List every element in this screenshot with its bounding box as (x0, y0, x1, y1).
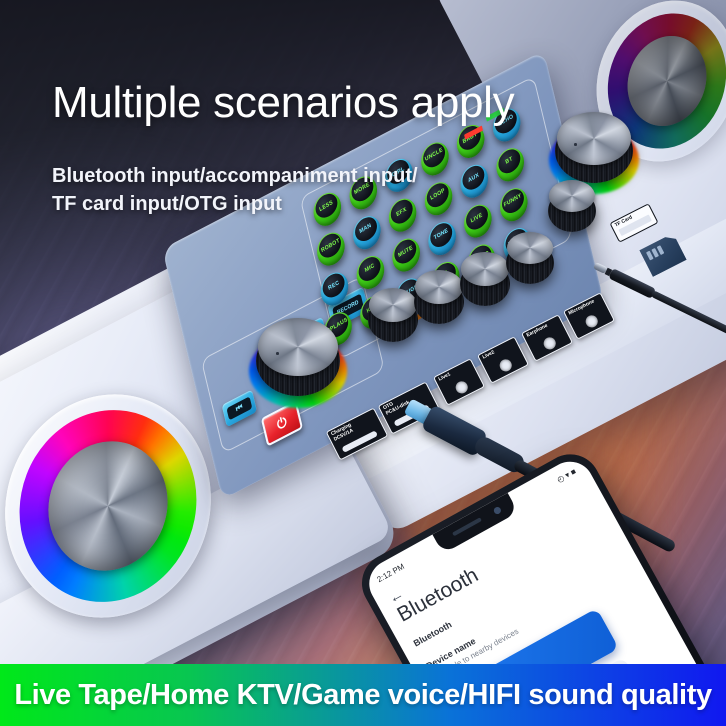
earphone-port-opening (542, 335, 558, 351)
pad-button-label: LIVE (470, 211, 483, 224)
pad-button-label: TONE (433, 228, 449, 242)
microphone-port-opening (584, 313, 600, 329)
pad-button-label: UNCLE (424, 147, 443, 163)
knob-cap (461, 252, 509, 286)
status-time: 2:12 PM (375, 561, 405, 583)
banner-text: Live Tape/Home KTV/Game voice/HIFI sound… (14, 679, 711, 712)
pad-button-label: MIC (364, 263, 375, 274)
bass-knob[interactable] (504, 232, 556, 290)
knob-indicator-dot (276, 352, 279, 355)
pad-button-label: BT (505, 156, 513, 166)
live1-port-opening (454, 379, 470, 395)
pad-button-label: REC (327, 279, 339, 291)
knob-cap (557, 112, 631, 165)
power-icon: ⏻ (275, 413, 288, 434)
knob-indicator-dot (574, 143, 577, 146)
pad-button-label: AUX (467, 172, 479, 184)
pad-button-label: MAN (359, 222, 372, 235)
pad-button-label: FUNNY (503, 193, 522, 209)
pad-button-label: MUTE (397, 244, 413, 258)
knob-cap (258, 318, 338, 376)
subtitle-line-1: Bluetooth input/accompaniment input/ (52, 163, 418, 191)
status-icons: ◴ ▾ ■ (555, 466, 577, 484)
pad-button-label: LOOP (430, 188, 446, 202)
treble-knob[interactable] (546, 180, 598, 238)
knob-cap (415, 270, 463, 304)
pad-button-label: ROBOT (320, 237, 340, 254)
subtitle-line-2: TF card input/OTG input (52, 191, 418, 219)
bluetooth-toggle-row[interactable]: Bluetooth (412, 619, 454, 648)
live2-port-opening (498, 357, 514, 373)
live2-port-label-line-1: Live2 (482, 350, 496, 361)
bottom-banner: Live Tape/Home KTV/Game voice/HIFI sound… (0, 664, 726, 726)
live2-port-label: Live2 (482, 350, 496, 361)
product-marketing-image: ⏮ ⏭ ⏯ RECORD ⏻ MODE LESSMOREGIRLUNCLEBAB… (0, 0, 726, 726)
volume-knob-main[interactable] (252, 318, 344, 410)
live1-port-label-line-1: Live1 (438, 372, 452, 383)
page-title: Multiple scenarios apply (52, 78, 514, 128)
knob-cap (369, 288, 417, 322)
subtitle-text: Bluetooth input/accompaniment input/ TF … (52, 163, 418, 218)
knob-cap (549, 180, 595, 212)
live1-port-label: Live1 (438, 372, 452, 383)
